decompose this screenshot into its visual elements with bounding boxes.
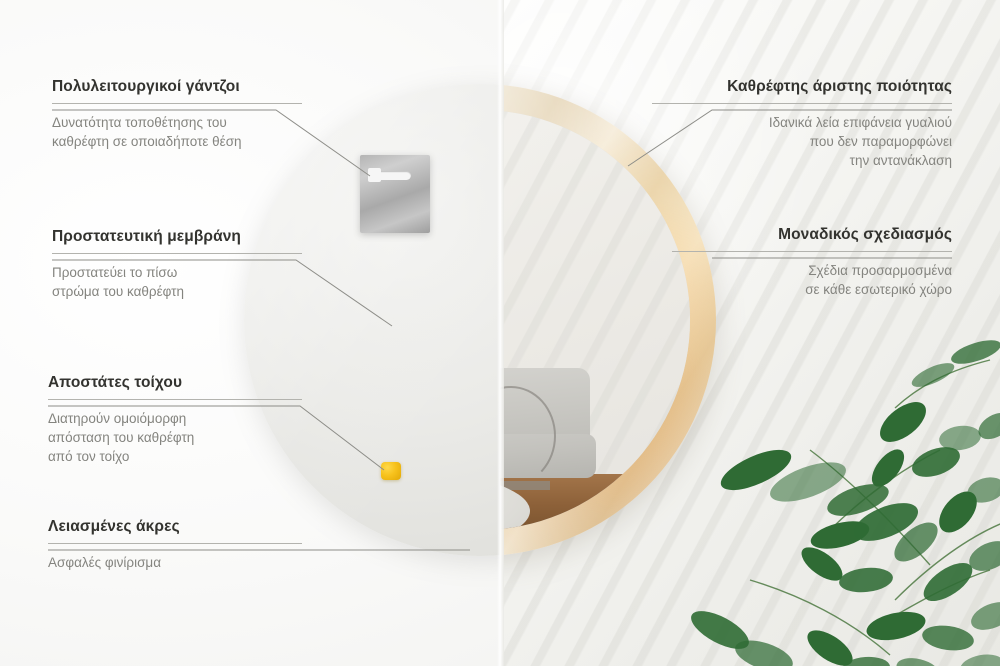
callout-description: Διατηρούν ομοιόμορφη απόσταση του καθρέφ… [48,409,302,466]
callout-description: Ιδανικά λεία επιφάνεια γυαλιού που δεν π… [652,113,952,170]
callout-description: Ασφαλές φινίρισμα [48,553,302,572]
callout-title: Καθρέφτης άριστης ποιότητας [652,78,952,96]
callout-title: Προστατευτική μεμβράνη [52,228,302,246]
callout-top-quality-mirror: Καθρέφτης άριστης ποιότητας Ιδανικά λεία… [652,78,952,170]
callout-smoothed-edges: Λειασμένες άκρες Ασφαλές φινίρισμα [48,518,302,572]
callout-title: Πολυλειτουργικοί γάντζοι [52,78,302,96]
callout-unique-design: Μοναδικός σχεδιασμός Σχέδια προσαρμοσμέν… [672,226,952,299]
wall-spacer [381,462,401,480]
hook-keyhole-slot [373,171,411,180]
callout-title: Λειασμένες άκρες [48,518,302,536]
callout-protective-membrane: Προστατευτική μεμβράνη Προστατεύει το πί… [52,228,302,301]
callout-multifunction-hooks: Πολυλειτουργικοί γάντζοι Δυνατότητα τοπο… [52,78,302,151]
callout-description: Προστατεύει το πίσω στρώμα του καθρέφτη [52,263,302,301]
callout-title: Αποστάτες τοίχου [48,374,302,392]
mirror-glass [500,110,690,530]
callout-rule [672,251,952,252]
panel-divider [497,0,504,666]
callout-description: Σχέδια προσαρμοσμένα σε κάθε εσωτερικό χ… [672,261,952,299]
callout-rule [48,399,302,400]
callout-rule [652,103,952,104]
callout-title: Μοναδικός σχεδιασμός [672,226,952,244]
callout-wall-spacers: Αποστάτες τοίχου Διατηρούν ομοιόμορφη απ… [48,374,302,466]
callout-description: Δυνατότητα τοποθέτησης του καθρέφτη σε ο… [52,113,302,151]
hanging-hook-plate [360,155,430,233]
callout-rule [52,103,302,104]
callout-rule [52,253,302,254]
product-infographic: Πολυλειτουργικοί γάντζοι Δυνατότητα τοπο… [0,0,1000,666]
callout-rule [48,543,302,544]
